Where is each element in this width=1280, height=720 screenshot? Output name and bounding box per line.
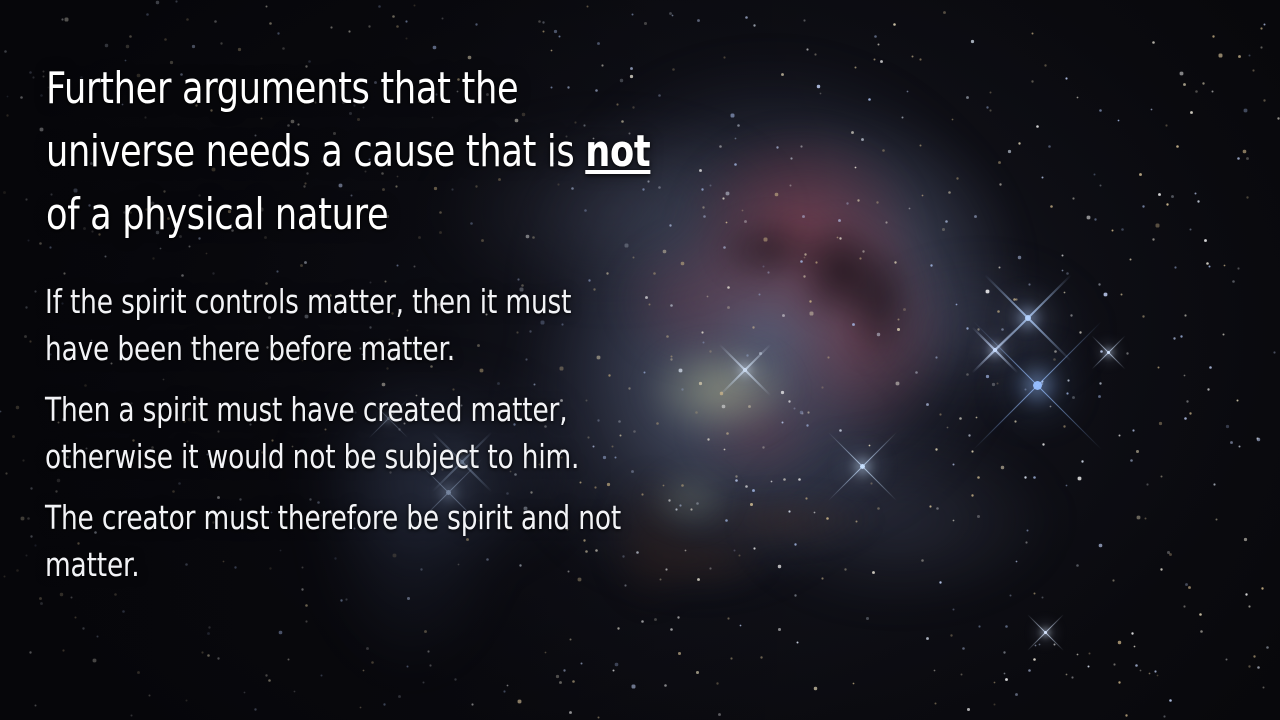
slide-title: Further arguments that the universe need…	[46, 57, 654, 246]
body-paragraph: The creator must therefore be spirit and…	[45, 494, 637, 588]
presentation-slide: Further arguments that the universe need…	[0, 0, 1280, 720]
slide-body: If the spirit controls matter, then it m…	[45, 278, 785, 588]
body-paragraph: If the spirit controls matter, then it m…	[45, 278, 637, 372]
slide-title-lead: Further arguments that the universe need…	[46, 63, 585, 177]
slide-title-emphasis: not	[585, 126, 650, 177]
body-paragraph: Then a spirit must have created matter, …	[45, 386, 637, 480]
slide-content: Further arguments that the universe need…	[0, 0, 1280, 720]
slide-title-tail: of a physical nature	[46, 189, 388, 240]
